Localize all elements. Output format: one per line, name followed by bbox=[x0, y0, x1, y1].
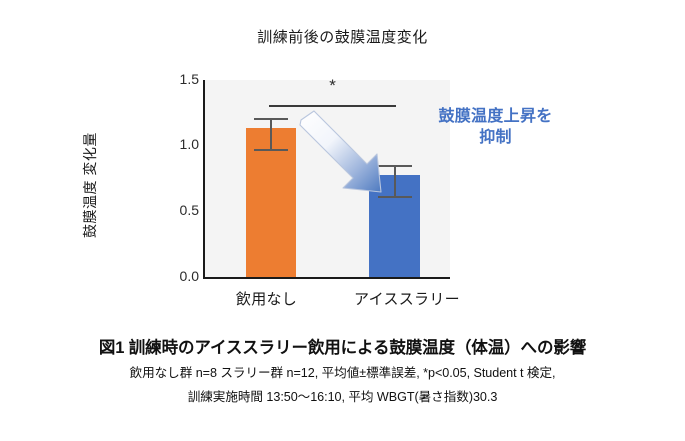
y-axis-tick-label: 0.5 bbox=[165, 202, 199, 218]
figure-panel: 訓練前後の鼓膜温度変化 1.5 1.0 0.5 0.0 鼓膜温度 変化量 * bbox=[0, 0, 685, 330]
y-axis-tick-label: 0.0 bbox=[165, 268, 199, 284]
callout-annotation: 鼓膜温度上昇を 抑制 bbox=[388, 106, 603, 148]
figure-caption: 図1 訓練時のアイススラリー飲用による鼓膜温度（体温）への影響 飲用なし群 n=… bbox=[0, 336, 685, 410]
error-bar-cap-bottom bbox=[378, 196, 412, 198]
y-axis-tick-label: 1.0 bbox=[165, 136, 199, 152]
error-bar-stem bbox=[270, 118, 272, 151]
x-axis-label-ice-slurry: アイススラリー bbox=[327, 288, 487, 309]
callout-line-2: 抑制 bbox=[388, 127, 603, 148]
caption-line-2: 飲用なし群 n=8 スラリー群 n=12, 平均値±標準誤差, *p<0.05,… bbox=[0, 361, 685, 386]
caption-line-3: 訓練実施時間 13:50〜16:10, 平均 WBGT(暑さ指数)30.3 bbox=[0, 385, 685, 410]
significance-asterisk: * bbox=[205, 77, 460, 94]
error-bar-cap-top bbox=[254, 118, 288, 120]
error-bar-cap-top bbox=[378, 165, 412, 167]
error-bar-stem bbox=[394, 165, 396, 198]
error-bar-cap-bottom bbox=[254, 149, 288, 151]
x-axis-label-drink-none: 飲用なし bbox=[199, 288, 334, 309]
error-bar-ice-slurry bbox=[378, 165, 412, 198]
y-axis-tick-label: 1.5 bbox=[165, 71, 199, 87]
error-bar-drink-none bbox=[254, 118, 288, 151]
callout-line-1: 鼓膜温度上昇を bbox=[438, 108, 552, 125]
caption-title: 図1 訓練時のアイススラリー飲用による鼓膜温度（体温）への影響 bbox=[0, 336, 685, 361]
chart-title: 訓練前後の鼓膜温度変化 bbox=[0, 26, 685, 47]
significance-bracket-line bbox=[269, 105, 396, 107]
y-axis-title: 鼓膜温度 変化量 bbox=[80, 85, 100, 285]
